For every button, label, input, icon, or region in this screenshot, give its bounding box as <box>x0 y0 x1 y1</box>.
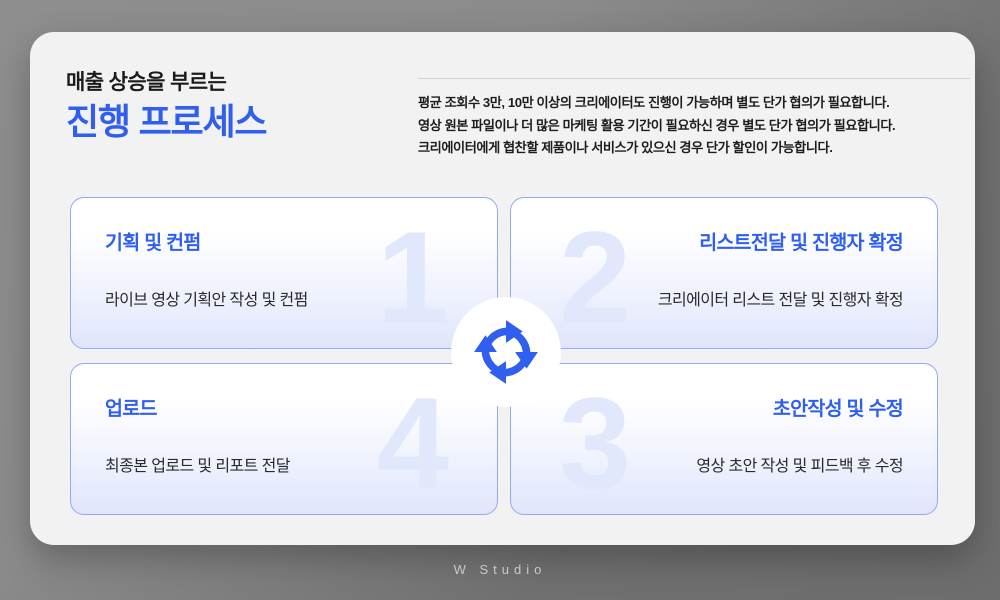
process-step-card-2[interactable]: 2 리스트전달 및 진행자 확정 크리에이터 리스트 전달 및 진행자 확정 <box>510 197 938 349</box>
page-title: 진행 프로세스 <box>66 101 266 143</box>
step-heading-3: 초안작성 및 수정 <box>773 392 903 421</box>
process-step-card-1[interactable]: 1 기획 및 컨펌 라이브 영상 기획안 작성 및 컨펌 <box>70 197 498 349</box>
description-line-2: 영상 원본 파일이나 더 많은 마케팅 활용 기간이 필요하신 경우 별도 단가… <box>418 115 970 138</box>
cycle-badge <box>452 298 560 406</box>
description-block: 평균 조회수 3만, 10만 이상의 크리에이터도 진행이 가능하며 별도 단가… <box>418 78 970 160</box>
divider <box>418 78 970 79</box>
process-step-card-3[interactable]: 3 초안작성 및 수정 영상 초안 작성 및 피드백 후 수정 <box>510 363 938 515</box>
step-number-2: 2 <box>559 212 631 342</box>
slide-canvas: 매출 상승을 부르는 진행 프로세스 평균 조회수 3만, 10만 이상의 크리… <box>0 0 1000 600</box>
page-eyebrow-title: 매출 상승을 부르는 <box>66 70 266 95</box>
watermark: W Studio <box>0 562 1000 577</box>
description-line-3: 크리에이터에게 협찬할 제품이나 서비스가 있으신 경우 단가 할인이 가능합니… <box>418 137 970 160</box>
process-step-card-4[interactable]: 4 업로드 최종본 업로드 및 리포트 전달 <box>70 363 498 515</box>
step-body-3: 영상 초안 작성 및 피드백 후 수정 <box>696 452 903 476</box>
description-line-1: 평균 조회수 3만, 10만 이상의 크리에이터도 진행이 가능하며 별도 단가… <box>418 92 970 115</box>
step-body-4: 최종본 업로드 및 리포트 전달 <box>105 452 290 476</box>
step-number-4: 4 <box>377 378 449 508</box>
content-panel: 매출 상승을 부르는 진행 프로세스 평균 조회수 3만, 10만 이상의 크리… <box>30 32 975 545</box>
step-body-2: 크리에이터 리스트 전달 및 진행자 확정 <box>658 286 903 310</box>
step-heading-4: 업로드 <box>105 392 157 421</box>
header: 매출 상승을 부르는 진행 프로세스 평균 조회수 3만, 10만 이상의 크리… <box>30 32 975 192</box>
step-heading-2: 리스트전달 및 진행자 확정 <box>699 226 903 255</box>
cycle-arrows-icon <box>468 314 544 390</box>
title-block: 매출 상승을 부르는 진행 프로세스 <box>66 70 266 144</box>
step-heading-1: 기획 및 컨펌 <box>105 226 201 255</box>
step-body-1: 라이브 영상 기획안 작성 및 컨펌 <box>105 286 308 310</box>
step-number-1: 1 <box>377 212 449 342</box>
step-number-3: 3 <box>559 378 631 508</box>
